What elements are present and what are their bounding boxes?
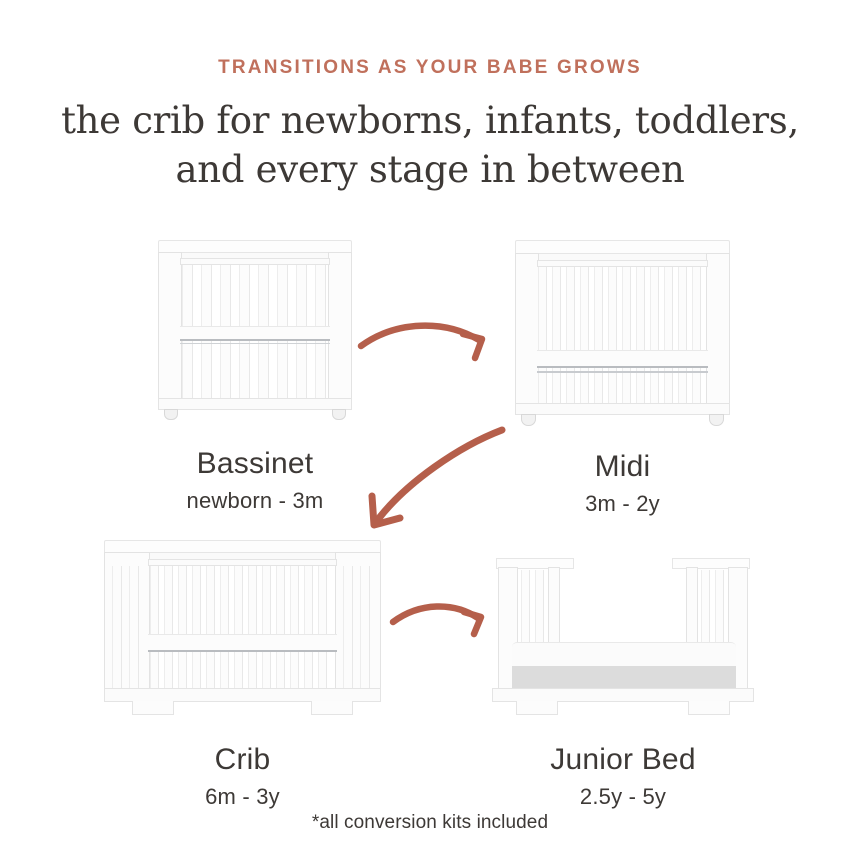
bassinet-illustration [150,240,360,425]
crib-illustration [100,540,385,720]
infographic-page: TRANSITIONS AS YOUR BABE GROWS the crib … [0,0,860,860]
arrow-midi-to-crib [350,418,525,538]
stage-age-bassinet: newborn - 3m [150,488,360,514]
midi-slats [537,267,708,412]
stage-age-crib: 6m - 3y [100,784,385,810]
junior-bed-foot [688,701,730,715]
stage-label-bassinet: Bassinet [150,447,360,481]
stage-label-junior-bed: Junior Bed [478,743,768,777]
stage-label-midi: Midi [505,450,740,484]
eyebrow-heading: TRANSITIONS AS YOUR BABE GROWS [0,57,860,79]
stage-label-crib: Crib [100,743,385,777]
stage-card-bassinet[interactable]: Bassinet newborn - 3m [150,240,360,514]
headline-line-2: and every stage in between [0,145,860,194]
caster-wheel [332,409,346,420]
headline-line-1: the crib for newborns, infants, toddlers… [61,99,799,142]
stage-card-junior-bed[interactable]: Junior Bed 2.5y - 5y [478,540,768,810]
arrow-bassinet-to-midi [355,312,505,382]
stage-card-midi[interactable]: Midi 3m - 2y [505,240,740,517]
page-title: the crib for newborns, infants, toddlers… [0,96,860,194]
footnote-text: *all conversion kits included [0,812,860,834]
midi-illustration [505,240,740,430]
crib-end-slats-right [339,566,377,690]
stage-age-junior-bed: 2.5y - 5y [478,784,768,810]
stage-card-crib[interactable]: Crib 6m - 3y [100,540,385,810]
arrow-crib-to-junior-bed [388,596,498,651]
stage-age-midi: 3m - 2y [505,491,740,517]
junior-bed-foot [516,701,558,715]
junior-bed-mattress [512,642,736,667]
junior-bed-illustration [478,540,768,720]
crib-end-slats-left [108,566,146,690]
caster-wheel [709,414,724,426]
crib-slats [148,566,337,690]
caster-wheel [164,409,178,420]
crib-foot [132,701,174,715]
crib-foot [311,701,353,715]
